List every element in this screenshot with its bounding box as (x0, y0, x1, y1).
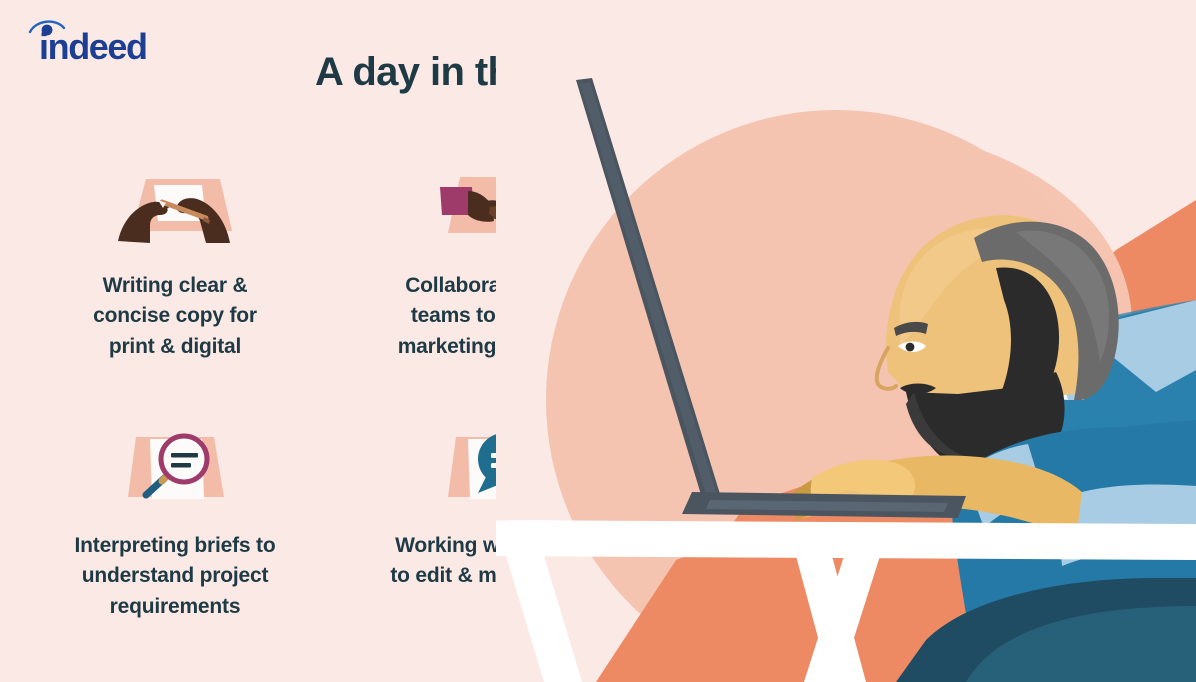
copywriter-illustration (496, 0, 1196, 682)
feature-label: Writing clear & concise copy for print &… (93, 271, 257, 362)
infographic-canvas: indeed A day in the life of a copywriter… (0, 0, 1196, 682)
indeed-logo-icon: indeed (22, 16, 172, 66)
feature-item-interpreting: Interpreting briefs to understand projec… (0, 425, 350, 655)
magnifying-glass-over-document-icon (110, 425, 240, 505)
svg-text:indeed: indeed (39, 26, 147, 66)
hands-writing-with-pencil-icon (110, 165, 240, 245)
feature-item-writing: Writing clear & concise copy for print &… (0, 165, 350, 425)
eye (906, 343, 915, 352)
desk-top (496, 520, 1196, 560)
feature-label: Interpreting briefs to understand projec… (75, 531, 276, 622)
indeed-logo[interactable]: indeed (22, 16, 172, 66)
